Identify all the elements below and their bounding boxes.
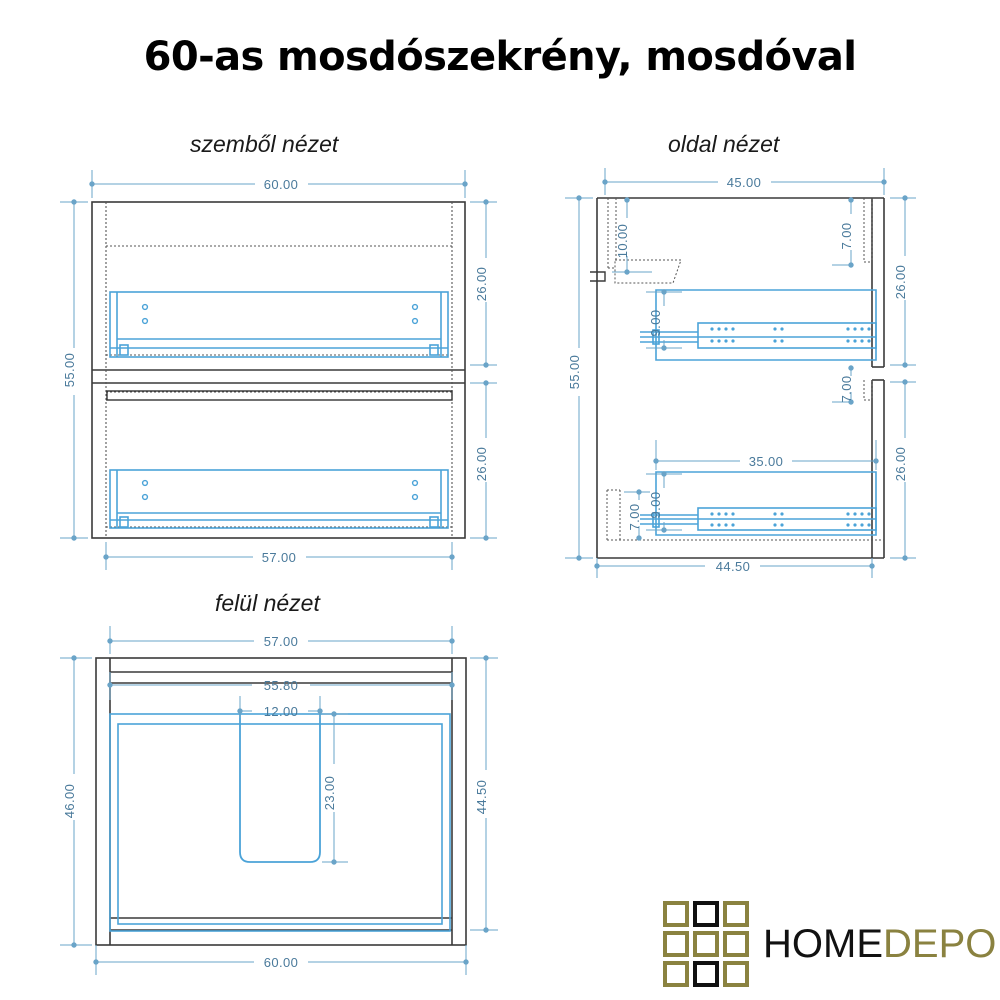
- logo-tile-7: [663, 961, 689, 987]
- logo-tile-6: [723, 931, 749, 957]
- logo-tile-2: [693, 901, 719, 927]
- dim-top-depth-body: 44.50: [474, 780, 489, 815]
- logo-tile-8: [693, 961, 719, 987]
- logo-tile-9: [723, 961, 749, 987]
- drawing-canvas: 60-as mosdószekrény, mosdóval szemből né…: [0, 0, 1000, 1000]
- top-view-drawing: 57.00 55.80 12.00 23.00: [0, 0, 1000, 1000]
- logo-tile-3: [723, 901, 749, 927]
- top-cabinet-outline: [96, 658, 466, 945]
- dim-top-cutout-depth: 23.00: [322, 776, 337, 811]
- homedepo-logo: HOMEDEPO: [663, 901, 996, 987]
- top-basin-outline: [110, 714, 450, 931]
- dim-top-depth-overall: 46.00: [62, 784, 77, 819]
- logo-tile-4: [663, 931, 689, 957]
- logo-text-depo: DEPO: [883, 922, 996, 966]
- top-sink-cutout: [240, 714, 320, 862]
- logo-tile-5: [693, 931, 719, 957]
- dim-top-cutout-width: 12.00: [264, 704, 299, 719]
- dim-top-width-body: 57.00: [264, 634, 299, 649]
- logo-wordmark: HOMEDEPO: [763, 924, 996, 964]
- dim-top-width-inner: 55.80: [264, 678, 299, 693]
- logo-tile-1: [663, 901, 689, 927]
- logo-text-home: HOME: [763, 922, 883, 966]
- logo-tile-grid: [663, 901, 749, 987]
- dim-top-width-overall: 60.00: [264, 955, 299, 970]
